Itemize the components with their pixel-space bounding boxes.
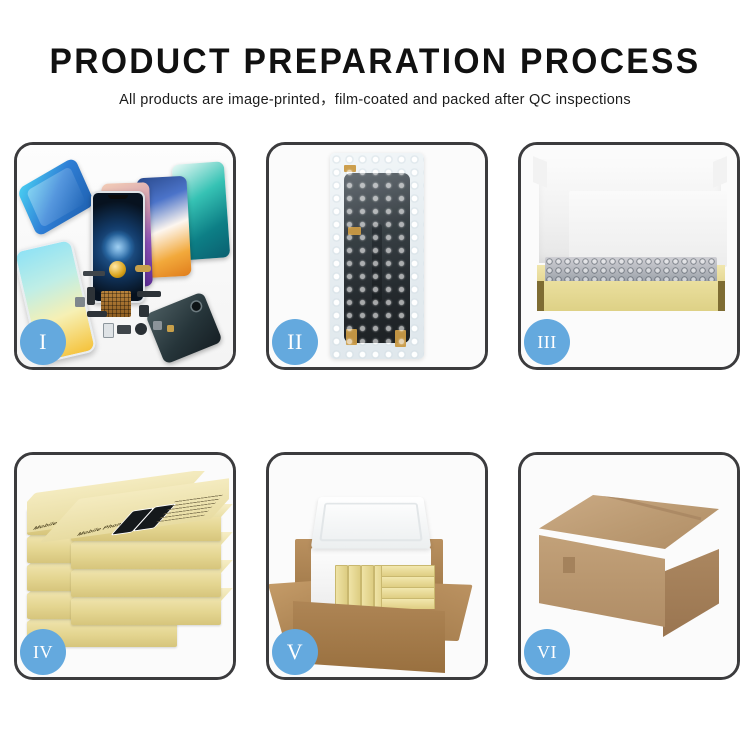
- camera-ring-part: [109, 261, 126, 278]
- step-badge-3: III: [524, 319, 570, 365]
- foam-liner: [569, 191, 727, 267]
- process-step-5: V: [266, 452, 488, 680]
- white-box-lid: [539, 159, 721, 263]
- open-carton: [295, 539, 443, 631]
- infographic-page: PRODUCT PREPARATION PROCESS All products…: [0, 0, 750, 750]
- step-panel: VI: [518, 452, 740, 680]
- process-steps-grid: I II: [14, 142, 740, 712]
- foam-insert: [311, 547, 431, 609]
- step-panel: V: [266, 452, 488, 680]
- kraft-tray: [537, 281, 725, 311]
- step-badge-1: I: [20, 319, 66, 365]
- carton-front-face: [539, 535, 665, 627]
- process-step-6: VI: [518, 452, 740, 680]
- process-step-4: Mobile Phone Spare Parts Mobile Phone Sp…: [14, 452, 236, 680]
- phone-dark-display: [91, 191, 145, 303]
- process-step-2: II: [266, 142, 488, 370]
- page-subtitle: All products are image-printed，film-coat…: [0, 82, 750, 110]
- page-title: PRODUCT PREPARATION PROCESS: [15, 0, 735, 82]
- header: PRODUCT PREPARATION PROCESS All products…: [0, 0, 750, 110]
- step-panel: Mobile Phone Spare Parts Mobile Phone Sp…: [14, 452, 236, 680]
- bubble-wrap-bag: [330, 153, 424, 359]
- step-badge-5: V: [272, 629, 318, 675]
- foam-lid: [311, 497, 432, 548]
- step-badge-4: IV: [20, 629, 66, 675]
- carton-side-face: [663, 549, 719, 637]
- step-badge-2: II: [272, 319, 318, 365]
- sealed-shipping-carton: [539, 495, 719, 627]
- packed-kraft-boxes: [335, 565, 441, 609]
- bubble-wrapped-screens-layer: [545, 257, 717, 283]
- wrapped-screen: [344, 173, 410, 343]
- step-panel: II: [266, 142, 488, 370]
- process-step-3: III: [518, 142, 740, 370]
- process-step-1: I: [14, 142, 236, 370]
- step-badge-6: VI: [524, 629, 570, 675]
- step-panel: I: [14, 142, 236, 370]
- step-panel: III: [518, 142, 740, 370]
